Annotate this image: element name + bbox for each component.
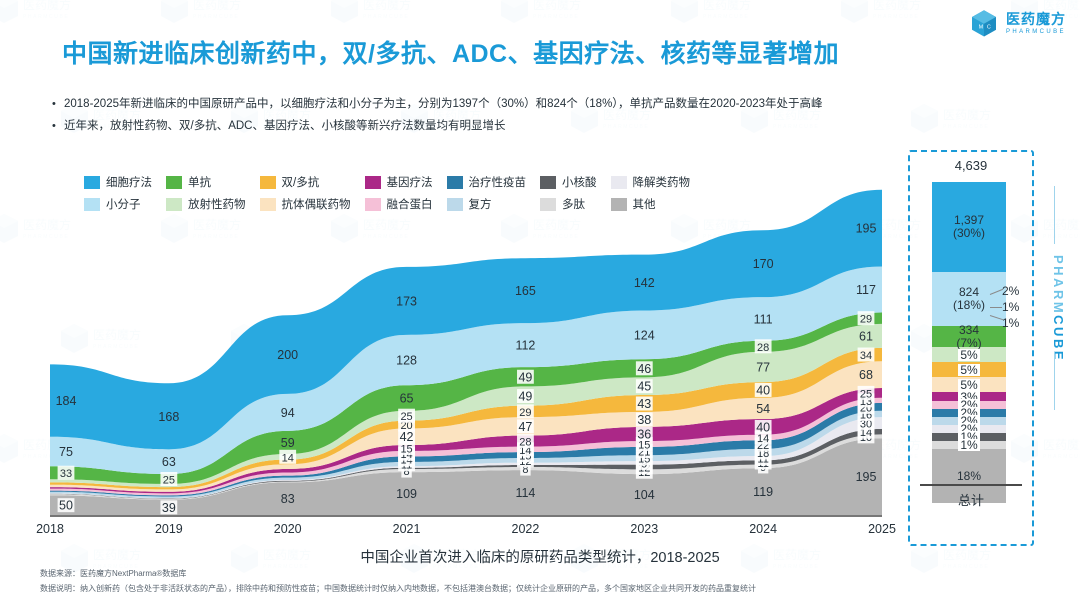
x-axis-tick: 2020 <box>258 522 318 536</box>
legend-label: 基因疗法 <box>387 174 447 190</box>
legend-label: 细胞疗法 <box>106 174 166 190</box>
cube-logo-icon: M C <box>969 8 999 38</box>
bullet-list: • 2018-2025年新进临床的中国原研产品中，以细胞疗法和小分子为主，分别为… <box>52 96 823 140</box>
legend-swatch <box>365 176 381 189</box>
chart-legend: 细胞疗法单抗双/多抗基因疗法治疗性疫苗小核酸降解类药物小分子放射性药物抗体偶联药… <box>84 174 704 212</box>
data-label: 33 <box>60 468 72 480</box>
svg-text:C: C <box>987 24 991 30</box>
legend-item[interactable]: 单抗 <box>166 174 260 190</box>
brand-vertical-text: PHARMCUBE <box>1051 255 1066 362</box>
legend-swatch <box>260 176 276 189</box>
data-label: 15 <box>400 443 412 455</box>
legend-item[interactable]: 融合蛋白 <box>365 196 447 212</box>
callout-line-b <box>990 307 1002 308</box>
segment-percent: 18% <box>957 470 981 483</box>
legend-item[interactable]: 小核酸 <box>540 174 611 190</box>
legend-item[interactable]: 基因疗法 <box>365 174 447 190</box>
data-label: 28 <box>757 342 769 354</box>
legend-item[interactable]: 小分子 <box>84 196 166 212</box>
total-bar-segment: 1,397(30%) <box>932 182 1006 272</box>
svg-text:医药魔方: 医药魔方 <box>193 0 241 12</box>
data-label: 40 <box>756 383 770 397</box>
data-label: 170 <box>753 257 774 271</box>
legend-swatch <box>540 198 556 211</box>
watermark-mark: 医药魔方PHARMCUBE <box>840 0 926 34</box>
legend-swatch <box>166 198 182 211</box>
data-label: 165 <box>515 284 536 298</box>
data-label: 42 <box>400 430 414 444</box>
data-label: 59 <box>281 436 295 450</box>
watermark-mark: 医药魔方PHARMCUBE <box>500 0 586 34</box>
legend-label: 降解类药物 <box>633 174 705 190</box>
legend-label: 治疗性疫苗 <box>469 174 541 190</box>
data-label: 63 <box>162 455 176 469</box>
legend-swatch <box>84 198 100 211</box>
svg-text:医药魔方: 医药魔方 <box>943 107 991 122</box>
x-axis-tick: 2018 <box>20 522 80 536</box>
x-axis-tick: 2022 <box>495 522 555 536</box>
legend-swatch <box>84 176 100 189</box>
legend-item[interactable]: 多肽 <box>540 196 611 212</box>
total-summary-panel: 4,639 1,397(30%)824(18%)334(7%)5%5%5%3%2… <box>908 150 1034 546</box>
total-bar-segment: 5% <box>932 347 1006 362</box>
segment-value: 334 <box>959 324 979 337</box>
svg-text:医药魔方: 医药魔方 <box>873 0 921 12</box>
chart-caption: 中国企业首次进入临床的原研药品类型统计，2018-2025 <box>0 546 1080 567</box>
x-axis-tick: 2019 <box>139 522 199 536</box>
svg-text:PHARMCUBE: PHARMCUBE <box>1043 234 1080 240</box>
segment-percent: 5% <box>958 364 979 376</box>
segment-percent: 5% <box>958 379 979 391</box>
watermark-mark: 医药魔方PHARMCUBE <box>910 100 996 144</box>
total-stacked-bar: 1,397(30%)824(18%)334(7%)5%5%5%3%2%2%2%2… <box>932 182 1006 503</box>
data-label: 14 <box>757 433 769 445</box>
bullet-marker: • <box>52 96 64 113</box>
data-label: 119 <box>753 485 773 499</box>
legend-label: 融合蛋白 <box>387 196 447 212</box>
legend-label: 小核酸 <box>562 174 611 190</box>
data-label: 124 <box>634 328 655 342</box>
legend-swatch <box>260 198 276 211</box>
data-label: 28 <box>519 437 531 449</box>
data-label: 34 <box>860 350 872 362</box>
data-label: 128 <box>396 354 417 368</box>
data-label: 104 <box>634 488 655 502</box>
legend-label: 小分子 <box>106 196 155 212</box>
list-item: • 2018-2025年新进临床的中国原研产品中，以细胞疗法和小分子为主，分别为… <box>52 96 823 114</box>
data-label: 29 <box>519 407 531 419</box>
svg-text:PHARMCUBE: PHARMCUBE <box>533 14 579 20</box>
svg-text:PHARMCUBE: PHARMCUBE <box>23 14 69 20</box>
watermark-mark: 医药魔方PHARMCUBE <box>670 0 756 34</box>
data-label: 195 <box>856 470 877 484</box>
legend-item[interactable]: 双/多抗 <box>260 174 365 190</box>
data-label: 38 <box>637 413 651 427</box>
svg-text:PHARMCUBE: PHARMCUBE <box>943 124 989 130</box>
watermark-mark: 医药魔方PHARMCUBE <box>330 0 416 34</box>
x-axis-tick: 2025 <box>852 522 912 536</box>
data-label: 25 <box>860 388 872 400</box>
svg-text:医药魔方: 医药魔方 <box>1043 217 1080 232</box>
legend-swatch <box>611 198 627 211</box>
legend-label: 放射性药物 <box>188 196 260 212</box>
data-label: 65 <box>400 391 414 405</box>
data-label: 29 <box>860 314 872 326</box>
data-label: 68 <box>859 368 873 382</box>
segment-percent: (18%) <box>953 299 985 312</box>
svg-text:M: M <box>979 24 983 30</box>
brand-rule-bottom <box>1054 352 1055 410</box>
footnotes: 数据来源：医药魔方NextPharma®数据库 数据说明：纳入创新药（包含处于非… <box>40 566 756 596</box>
total-axis-label: 总计 <box>910 490 1032 509</box>
brand-name-en: PHARMCUBE <box>1006 29 1066 35</box>
total-bar-segment: 334(7%) <box>932 326 1006 347</box>
svg-text:医药魔方: 医药魔方 <box>1043 437 1080 452</box>
legend-label: 多肽 <box>562 196 599 212</box>
brand-vertical-pharm: PHARM <box>1051 255 1066 315</box>
watermark-mark: 医药魔方PHARMCUBE <box>160 0 246 34</box>
x-axis-ticks: 20182019202020212022202320242025 <box>32 522 900 542</box>
data-label: 200 <box>277 348 298 362</box>
data-label: 47 <box>518 420 532 434</box>
segment-percent: (30%) <box>953 227 985 240</box>
x-axis-tick: 2024 <box>733 522 793 536</box>
data-label: 114 <box>515 486 535 500</box>
segment-percent: 5% <box>958 349 979 361</box>
legend-item[interactable]: 放射性药物 <box>166 196 260 212</box>
data-label: 83 <box>281 492 295 506</box>
legend-item[interactable]: 治疗性疫苗 <box>447 174 541 190</box>
svg-text:PHARMCUBE: PHARMCUBE <box>873 14 919 20</box>
brand-logo: M C 医药魔方 PHARMCUBE <box>969 8 1066 38</box>
data-label: 25 <box>400 411 412 423</box>
legend-label: 单抗 <box>188 174 225 190</box>
x-axis-tick: 2023 <box>614 522 674 536</box>
legend-item[interactable]: 降解类药物 <box>611 174 705 190</box>
brand-name-cn: 医药魔方 <box>1006 12 1066 26</box>
svg-text:医药魔方: 医药魔方 <box>703 0 751 12</box>
legend-swatch <box>365 198 381 211</box>
data-label: 43 <box>637 397 651 411</box>
svg-text:医药魔方: 医药魔方 <box>23 0 71 12</box>
data-label: 117 <box>856 283 876 297</box>
data-label: 39 <box>162 501 176 515</box>
data-label: 109 <box>396 487 417 501</box>
data-label: 49 <box>518 390 532 404</box>
data-label: 54 <box>756 402 770 416</box>
legend-label: 双/多抗 <box>282 174 334 190</box>
svg-text:PHARMCUBE: PHARMCUBE <box>363 14 409 20</box>
callout-label-2pct: 2% <box>1002 284 1019 298</box>
bullet-marker: • <box>52 118 64 135</box>
data-label: 46 <box>637 362 651 376</box>
footnote-definition: 数据说明：纳入创新药（包含处于非活跃状态的产品），排除中药和预防性疫苗；中国数据… <box>40 581 756 596</box>
legend-item[interactable]: 细胞疗法 <box>84 174 166 190</box>
total-baseline <box>920 484 1022 486</box>
data-label: 111 <box>754 312 773 326</box>
data-label: 36 <box>637 427 651 441</box>
data-label: 49 <box>518 370 532 384</box>
legend-item[interactable]: 抗体偶联药物 <box>260 196 365 212</box>
legend-label: 复方 <box>469 196 506 212</box>
total-grand-value: 4,639 <box>910 158 1032 173</box>
data-label: 45 <box>637 380 651 394</box>
bullet-text: 2018-2025年新进临床的中国原研产品中，以细胞疗法和小分子为主，分别为13… <box>64 96 823 114</box>
legend-item[interactable]: 其他 <box>611 196 705 212</box>
svg-text:PHARMCUBE: PHARMCUBE <box>1043 454 1080 460</box>
footnote-source: 数据来源：医药魔方NextPharma®数据库 <box>40 566 756 581</box>
legend-item[interactable]: 复方 <box>447 196 541 212</box>
total-bar-segment: 5% <box>932 362 1006 377</box>
svg-text:PHARMCUBE: PHARMCUBE <box>703 14 749 20</box>
legend-swatch <box>540 176 556 189</box>
x-axis-tick: 2021 <box>377 522 437 536</box>
data-label: 50 <box>59 499 73 513</box>
data-label: 75 <box>59 445 73 459</box>
callout-label-1pct-a: 1% <box>1002 300 1019 314</box>
data-label: 195 <box>856 222 877 236</box>
legend-swatch <box>611 176 627 189</box>
total-bar-segment: 1% <box>932 441 1006 449</box>
data-label: 61 <box>859 329 873 343</box>
data-label: 173 <box>396 294 417 308</box>
data-label: 77 <box>756 360 770 374</box>
svg-text:PHARMCUBE: PHARMCUBE <box>193 14 239 20</box>
data-label: 168 <box>158 410 179 424</box>
watermark-mark: 医药魔方PHARMCUBE <box>0 0 76 34</box>
data-label: 25 <box>163 475 175 487</box>
legend-swatch <box>166 176 182 189</box>
data-label: 142 <box>634 276 655 290</box>
svg-text:医药魔方: 医药魔方 <box>533 0 581 12</box>
legend-label: 其他 <box>633 196 670 212</box>
data-label: 112 <box>515 339 535 353</box>
svg-text:医药魔方: 医药魔方 <box>363 0 411 12</box>
page-title: 中国新进临床创新药中，双/多抗、ADC、基因疗法、核药等显著增加 <box>62 34 839 70</box>
legend-swatch <box>447 176 463 189</box>
data-label: 184 <box>56 394 77 408</box>
segment-percent: 1% <box>958 439 979 451</box>
list-item: • 近年来，放射性药物、双/多抗、ADC、基因疗法、小核酸等新兴疗法数量均有明显… <box>52 118 823 136</box>
data-label: 40 <box>756 420 770 434</box>
legend-label: 抗体偶联药物 <box>282 196 365 212</box>
callout-label-1pct-b: 1% <box>1002 316 1019 330</box>
data-label: 94 <box>281 406 295 420</box>
brand-rule-top <box>1054 186 1055 244</box>
legend-swatch <box>447 198 463 211</box>
data-label: 14 <box>282 452 294 464</box>
bullet-text: 近年来，放射性药物、双/多抗、ADC、基因疗法、小核酸等新兴疗法数量均有明显增长 <box>64 118 505 136</box>
